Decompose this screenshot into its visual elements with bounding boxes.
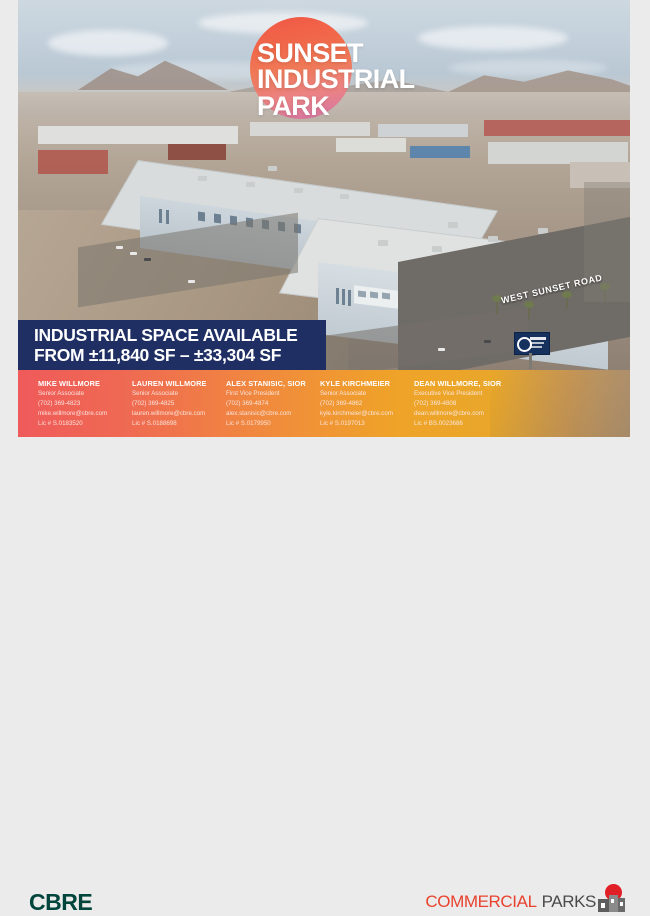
commercial-parks-building-icon [598, 890, 626, 914]
contact-name: LAUREN WILLMORE [132, 378, 226, 389]
cloud [48, 30, 168, 56]
window [214, 214, 221, 224]
window [370, 292, 378, 299]
contact-title: Senior Associate [320, 389, 414, 399]
contact-phone[interactable]: (702) 369-4862 [320, 399, 414, 409]
palm-tree [566, 296, 568, 309]
building-window [601, 903, 605, 908]
background-building [488, 142, 628, 164]
rooftop-hvac-unit [340, 194, 349, 199]
rooftop-hvac-unit [378, 240, 388, 246]
window [166, 210, 169, 224]
commercial-parks-logo[interactable]: COMMERCIAL PARKS [425, 889, 626, 915]
contact-phone[interactable]: (702) 369-4825 [132, 399, 226, 409]
contact-name: ALEX STANISIC, SIOR [226, 378, 320, 389]
contact-card: KYLE KIRCHMEIER Senior Associate (702) 3… [320, 378, 414, 437]
contact-license: Lic # S.0188698 [132, 419, 226, 429]
building-window [620, 902, 623, 906]
contact-email[interactable]: mike.willmore@cbre.com [38, 409, 132, 419]
contact-phone[interactable]: (702) 369-4808 [414, 399, 508, 409]
building-window [611, 899, 614, 903]
contact-title: Senior Associate [132, 389, 226, 399]
background-building [410, 146, 470, 158]
background-building [484, 120, 630, 136]
window [358, 291, 366, 298]
window [348, 290, 351, 306]
window [342, 289, 345, 305]
property-flyer: WEST SUNSET ROAD SUNSET INDUSTRIAL PARK … [0, 0, 650, 502]
page-title: SUNSET INDUSTRIAL PARK [257, 40, 597, 119]
contact-title: Executive Vice President [414, 389, 508, 399]
background-building [168, 144, 226, 160]
contact-name: KYLE KIRCHMEIER [320, 378, 414, 389]
construction-equipment [38, 150, 108, 174]
parked-car [116, 246, 123, 249]
rooftop-hvac-unit [488, 236, 498, 242]
rooftop-hvac-unit [432, 246, 442, 252]
billboard-text-line [530, 337, 546, 340]
rooftop-hvac-unit [268, 166, 277, 171]
contact-email[interactable]: dean.willmore@cbre.com [414, 409, 508, 419]
billboard-text-line [530, 346, 542, 348]
contact-card: DEAN WILLMORE, SIOR Executive Vice Presi… [414, 378, 508, 437]
contact-card: MIKE WILLMORE Senior Associate (702) 369… [38, 378, 132, 437]
contact-license: Lic # S.0179950 [226, 419, 320, 429]
background-building [250, 122, 370, 136]
building-block [609, 895, 618, 912]
contact-title: Senior Associate [38, 389, 132, 399]
parked-car [188, 280, 195, 283]
billboard-post [529, 353, 532, 369]
contact-email[interactable]: alex.stanisic@cbre.com [226, 409, 320, 419]
palm-tree [496, 300, 498, 314]
background-building [336, 138, 406, 152]
rooftop-hvac-unit [246, 182, 255, 187]
commercial-parks-word-parks: PARKS [542, 892, 596, 912]
moving-car [484, 340, 491, 343]
window [382, 293, 390, 300]
contact-columns: MIKE WILLMORE Senior Associate (702) 369… [18, 370, 630, 437]
parked-car [130, 252, 137, 255]
rooftop-hvac-unit [448, 222, 458, 228]
cbre-billboard-sign [514, 332, 550, 355]
parked-car [144, 258, 151, 261]
cbre-logo[interactable]: CBRE [29, 889, 92, 916]
headline-line-1: INDUSTRIAL SPACE AVAILABLE [34, 326, 326, 346]
billboard-text-line [530, 342, 544, 344]
contact-name: DEAN WILLMORE, SIOR [414, 378, 508, 389]
contact-license: Lic # S.0183520 [38, 419, 132, 429]
contact-license: Lic # BS.0023686 [414, 419, 508, 429]
contact-phone[interactable]: (702) 369-4874 [226, 399, 320, 409]
title-line-3: PARK [257, 93, 597, 119]
contact-email[interactable]: lauren.willmore@cbre.com [132, 409, 226, 419]
contact-name: MIKE WILLMORE [38, 378, 132, 389]
contact-phone[interactable]: (702) 369-4823 [38, 399, 132, 409]
window [198, 212, 205, 222]
contact-title: First Vice President [226, 389, 320, 399]
headline-line-2: FROM ±11,840 SF – ±33,304 SF [34, 346, 326, 366]
footer: CBRE COMMERCIAL PARKS [0, 437, 650, 502]
availability-headline-box: INDUSTRIAL SPACE AVAILABLE FROM ±11,840 … [18, 320, 326, 370]
title-line-2: INDUSTRIAL [257, 66, 597, 92]
contact-card: LAUREN WILLMORE Senior Associate (702) 3… [132, 378, 226, 437]
contact-band: MIKE WILLMORE Senior Associate (702) 369… [18, 370, 630, 437]
moving-car [438, 348, 445, 351]
rooftop-hvac-unit [198, 176, 207, 181]
window [159, 209, 162, 223]
contact-email[interactable]: kyle.kirchmeier@cbre.com [320, 409, 414, 419]
contact-license: Lic # S.0197013 [320, 419, 414, 429]
commercial-parks-word-commercial: COMMERCIAL [425, 892, 536, 912]
contact-card: ALEX STANISIC, SIOR First Vice President… [226, 378, 320, 437]
palm-tree [528, 306, 530, 319]
background-building [38, 126, 238, 144]
title-line-1: SUNSET [257, 40, 597, 66]
background-building [378, 124, 468, 137]
window [336, 288, 339, 304]
rooftop-hvac-unit [294, 188, 303, 193]
